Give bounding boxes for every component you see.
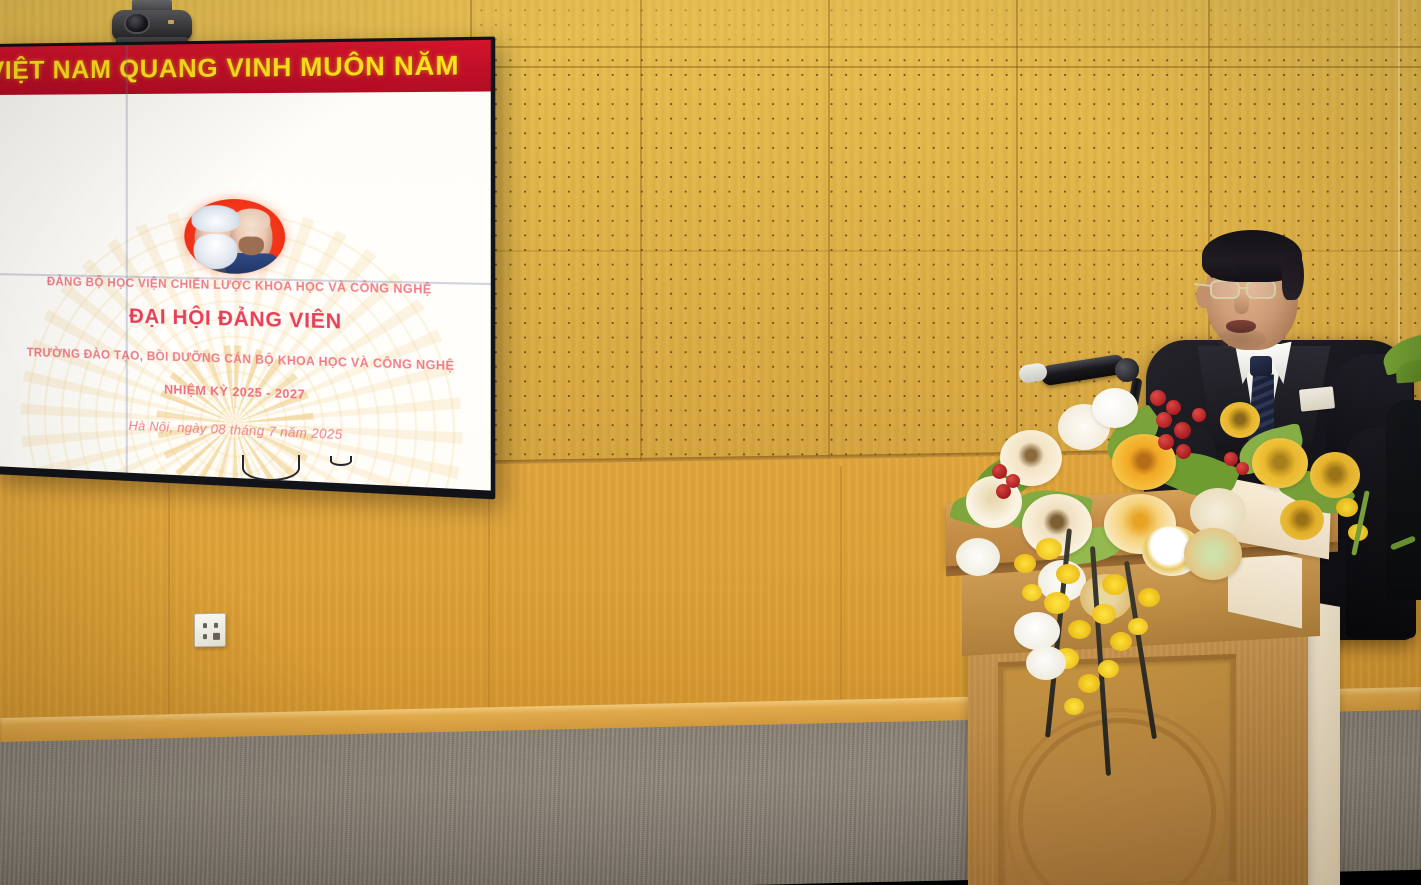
flower-white-orchid (1092, 388, 1138, 428)
oncidium-bloom (1014, 554, 1036, 573)
marx-lenin-portrait-emblem (184, 199, 285, 275)
mouth (1226, 320, 1256, 333)
flower-yellow-daisy (1310, 452, 1360, 498)
ear (1196, 284, 1211, 308)
slide-banner-text: ẢN VIỆT NAM QUANG VINH MUÔN NĂM (0, 50, 459, 85)
marx-hair (191, 205, 239, 232)
video-wall-display[interactable]: ẢN VIỆT NAM QUANG VINH MUÔN NĂM (0, 37, 495, 500)
panel-seam (470, 66, 1421, 68)
oncidium-bloom (1078, 674, 1100, 693)
flower-yellow-daisy (1280, 500, 1324, 540)
wainscot-seam (488, 470, 490, 730)
oncidium-bloom (1128, 618, 1148, 635)
oncidium-bloom (1102, 574, 1127, 595)
oncidium-bloom (1098, 660, 1119, 678)
oncidium-bloom (1022, 584, 1042, 601)
berry (1236, 462, 1249, 475)
display-cable (242, 455, 300, 481)
camera-led-icon (168, 20, 174, 24)
oncidium-bloom (1110, 632, 1132, 651)
wall-power-outlet[interactable] (194, 613, 226, 648)
flower-white-orchid (956, 538, 1000, 576)
display-screen: ẢN VIỆT NAM QUANG VINH MUÔN NĂM (0, 40, 491, 491)
eyeglasses-bridge (1240, 287, 1248, 289)
oncidium-bloom (1044, 592, 1070, 614)
lenin-beard (238, 236, 263, 255)
perforated-panel-strip-top (470, 0, 1421, 50)
eyeglasses-lens-right (1246, 280, 1276, 299)
oncidium-bloom (1064, 698, 1084, 715)
podium-floral-arrangement (952, 378, 1392, 708)
flower-yellow-daisy (1252, 438, 1308, 488)
berry (1224, 452, 1238, 466)
display-bezel: ẢN VIỆT NAM QUANG VINH MUÔN NĂM (0, 37, 495, 500)
oncidium-bloom (1068, 620, 1091, 639)
necktie-knot (1250, 356, 1272, 376)
berry (1156, 412, 1172, 428)
marx-beard (193, 234, 237, 270)
slide-subtitle-line: TRƯỜNG ĐÀO TẠO, BỒI DƯỠNG CÁN BỘ KHOA HỌ… (0, 346, 491, 374)
eyeglasses-lens-left (1210, 280, 1240, 299)
oncidium-bloom (1056, 564, 1080, 584)
slide-banner: ẢN VIỆT NAM QUANG VINH MUÔN NĂM (0, 40, 491, 95)
berry (1150, 390, 1166, 406)
panel-seam (828, 0, 830, 478)
flower-white-orchid (1014, 612, 1060, 650)
conference-room-scene: ẢN VIỆT NAM QUANG VINH MUÔN NĂM (0, 0, 1421, 885)
camera-lens-icon (124, 12, 150, 34)
slide-term-line: NHIỆM KỲ 2025 - 2027 (0, 376, 491, 409)
flower-yellow-daisy (1220, 402, 1260, 438)
berry (992, 464, 1007, 479)
flower-protea (1184, 528, 1242, 580)
oncidium-bloom (1036, 538, 1062, 560)
oncidium-bloom (1336, 498, 1358, 517)
display-cable (330, 456, 352, 466)
berry (1158, 434, 1174, 450)
slide-body: ĐẢNG BỘ HỌC VIỆN CHIẾN LƯỢC KHOA HỌC VÀ … (0, 91, 491, 490)
videowall-seam (126, 45, 128, 473)
oncidium-bloom (1092, 604, 1116, 624)
slide-title-line: ĐẠI HỘI ĐẢNG VIÊN (0, 302, 491, 339)
panel-seam (640, 0, 642, 478)
slide-text-block: ĐẢNG BỘ HỌC VIỆN CHIẾN LƯỢC KHOA HỌC VÀ … (0, 275, 491, 449)
panel-seam (470, 46, 1421, 48)
oncidium-bloom (1138, 588, 1160, 607)
flower-white-orchid (1026, 646, 1066, 680)
berry (1192, 408, 1206, 422)
berry (996, 484, 1011, 499)
berry (1174, 422, 1191, 439)
berry (1176, 444, 1191, 459)
wainscot-seam (840, 466, 842, 736)
wainscot-seam (168, 472, 170, 732)
